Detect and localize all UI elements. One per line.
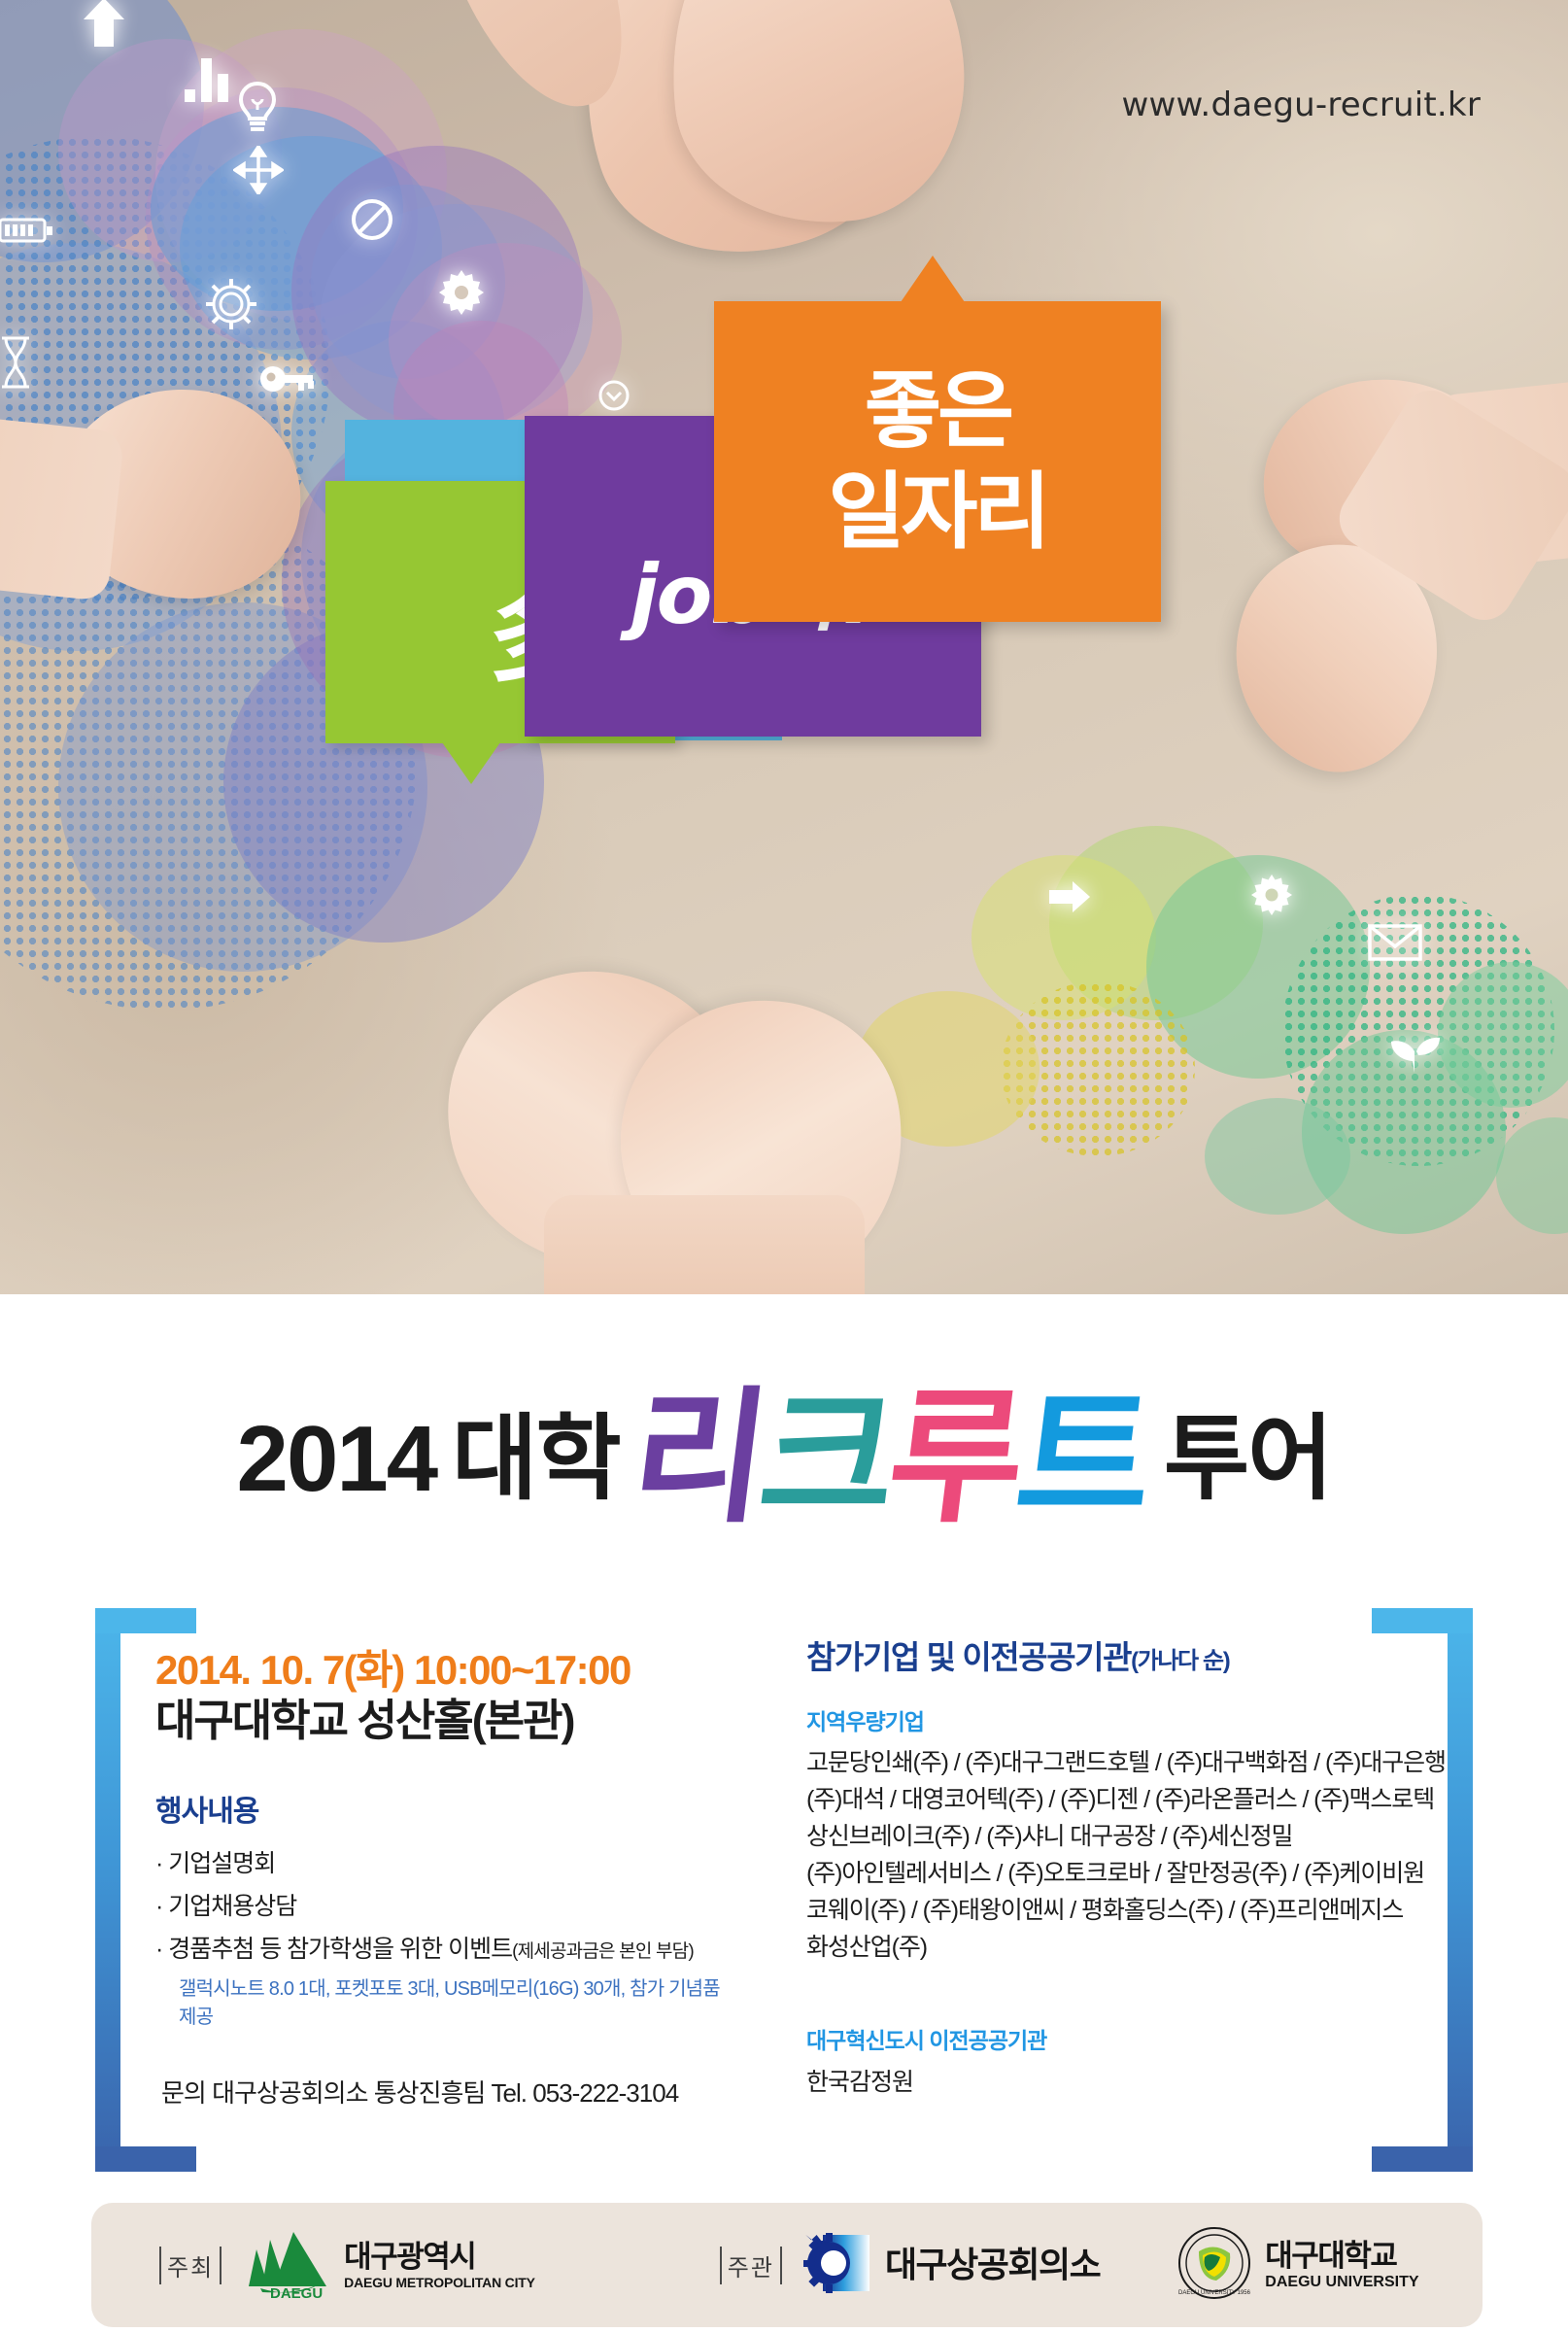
bracket-left-top [95,1608,196,1633]
title-recruit-char-4: 트 [1010,1396,1154,1522]
program-item-text: 기업설명회 [168,1850,275,1877]
daegu-university-name-en: DAEGU UNIVERSITY [1265,2275,1418,2290]
daegu-chamber-logo-text: 대구상공회의소 [885,2247,1100,2282]
program-item-note: (제세공과금은 본인 부담) [512,1941,694,1962]
program-item-text: 기업채용상담 [168,1893,296,1920]
bracket-right-bottom [1372,2146,1473,2172]
title-university-word: 대학 [452,1413,620,1506]
relocated-agencies-list: 한국감정원 [806,2063,1389,2098]
bubble-text-orange-line1: 좋은 [865,369,1010,453]
bracket-left-bottom [95,2146,196,2172]
bokeh-blob [389,243,622,437]
title-tour-word: 투어 [1164,1413,1332,1506]
svg-text:DAEGU: DAEGU [270,2285,323,2300]
organizer-group: 주관 [720,2231,1101,2300]
lightbulb-icon [235,81,280,137]
daegu-university-logo-mark: DAEGU UNIVERSITY 1956 [1177,2226,1251,2305]
daegu-city-name-en: DAEGU METROPOLITAN CITY [344,2276,535,2289]
participating-companies-column: 참가기업 및 이전공공기관(가나다 순) 지역우량기업 고문당인쇄(주) / (… [806,1631,1389,2098]
program-list: 기업설명회 기업채용상담 경품추첨 등 참가학생을 위한 이벤트(제세공과금은 … [155,1843,738,1971]
no-entry-icon [350,197,394,242]
host-group: 주최 DAEGU 대구광역시 DAEGU METROPOLITAN CITY [159,2226,535,2305]
company-line: 상신브레이크(주) / (주)샤니 대구공장 / (주)세신정밀 [806,1818,1389,1855]
website-url[interactable]: www.daegu-recruit.kr [1122,86,1481,124]
poster-root: 우수인력 多 job자! 좋은 일자리 www.daegu-recruit.kr… [0,0,1568,2333]
info-panel: 2014. 10. 7(화) 10:00~17:00 대구대학교 성산홀(본관)… [0,1608,1568,2172]
contact-info: 문의 대구상공회의소 통상진흥팀 Tel. 053-222-3104 [161,2074,738,2110]
move-arrows-icon [233,146,284,194]
speech-bubble-orange: 좋은 일자리 [714,301,1161,622]
bracket-right-vertical [1448,1608,1473,2172]
title-recruit-char-3: 루 [882,1396,1026,1522]
svg-text:DAEGU UNIVERSITY 1956: DAEGU UNIVERSITY 1956 [1178,2290,1251,2296]
hero-photo-area: 우수인력 多 job자! 좋은 일자리 www.daegu-recruit.kr [0,0,1568,1294]
companies-heading: 참가기업 및 이전공공기관(가나다 순) [806,1631,1389,1678]
bubble-tail [442,742,500,784]
hand-bottom-arm [544,1195,865,1294]
battery-icon [0,216,54,245]
daegu-city-name-kr: 대구광역시 [344,2242,535,2272]
event-details-column: 2014. 10. 7(화) 10:00~17:00 대구대학교 성산홀(본관)… [155,1647,738,2110]
bar-chart-icon [183,56,235,103]
program-heading: 행사내용 [155,1787,738,1830]
gear-solid-icon [439,270,484,315]
bokeh-blob [1205,1098,1350,1215]
hand-left-arm [0,404,124,601]
arrow-right-icon [1047,879,1092,914]
company-line: 고문당인쇄(주) / (주)대구그랜드호텔 / (주)대구백화점 / (주)대구… [806,1744,1389,1781]
section-label-local-companies: 지역우량기업 [806,1703,1389,1736]
daegu-university-group: DAEGU UNIVERSITY 1956 대구대학교 DAEGU UNIVER… [1177,2226,1418,2305]
envelope-icon [1368,923,1422,962]
bokeh-blob [1496,1117,1568,1234]
daegu-city-logo-text: 대구광역시 DAEGU METROPOLITAN CITY [344,2242,535,2289]
title-year: 2014 [237,1413,437,1506]
bracket-left-vertical [95,1608,120,2172]
list-item: 기업설명회 [155,1843,738,1886]
poster-title: 2014 대학 리 크 루 트 투어 [0,1360,1568,1506]
prize-details: 갤럭시노트 8.0 1대, 포켓포토 3대, USB메모리(16G) 30개, … [179,1973,738,2029]
chevron-down-icon [597,379,631,412]
title-recruit-char-1: 리 [626,1396,769,1522]
daegu-university-logo-text: 대구대학교 DAEGU UNIVERSITY [1265,2241,1418,2290]
program-item-text: 경품추첨 등 참가학생을 위한 이벤트 [168,1936,512,1963]
organizer-label: 주관 [720,2247,782,2284]
companies-heading-main: 참가기업 및 이전공공기관 [806,1639,1131,1675]
arrow-up-icon [82,0,126,49]
daegu-city-logo-mark: DAEGU [241,2226,330,2305]
title-recruit-char-2: 크 [754,1396,898,1522]
bubble-text-orange-line2: 일자리 [828,470,1046,554]
daegu-university-name-kr: 대구대학교 [1265,2241,1418,2271]
company-line: (주)아인텔레서비스 / (주)오토크로바 / 잘만정공(주) / (주)케이비… [806,1855,1389,1892]
list-item: 기업채용상담 [155,1886,738,1929]
gear-outline-icon [202,275,260,333]
leaf-icon [1389,1030,1442,1073]
company-line: 코웨이(주) / (주)태왕이앤씨 / 평화홀딩스(주) / (주)프리앤메지스 [806,1892,1389,1929]
host-label: 주최 [159,2247,222,2284]
daegu-chamber-logo-mark [801,2231,871,2300]
local-companies-list: 고문당인쇄(주) / (주)대구그랜드호텔 / (주)대구백화점 / (주)대구… [806,1744,1389,1966]
section-label-relocated-agencies: 대구혁신도시 이전공공기관 [806,2022,1389,2055]
companies-heading-sub: (가나다 순) [1131,1648,1229,1674]
daegu-chamber-name-kr: 대구상공회의소 [885,2247,1100,2282]
gear-small-icon [1251,875,1292,915]
bubble-tail [901,256,965,302]
company-line: (주)대석 / 대영코어텍(주) / (주)디젠 / (주)라온플러스 / (주… [806,1781,1389,1818]
bracket-right-top [1372,1608,1473,1633]
company-line: 화성산업(주) [806,1929,1389,1966]
event-venue: 대구대학교 성산홀(본관) [155,1695,738,1746]
hourglass-icon [0,335,33,390]
list-item: 경품추첨 등 참가학생을 위한 이벤트(제세공과금은 본인 부담) [155,1929,738,1972]
key-icon [258,362,315,397]
event-date: 2014. 10. 7(화) 10:00~17:00 [155,1647,738,1693]
sponsor-footer: 주최 DAEGU 대구광역시 DAEGU METROPOLITAN CITY 주… [91,2203,1483,2327]
